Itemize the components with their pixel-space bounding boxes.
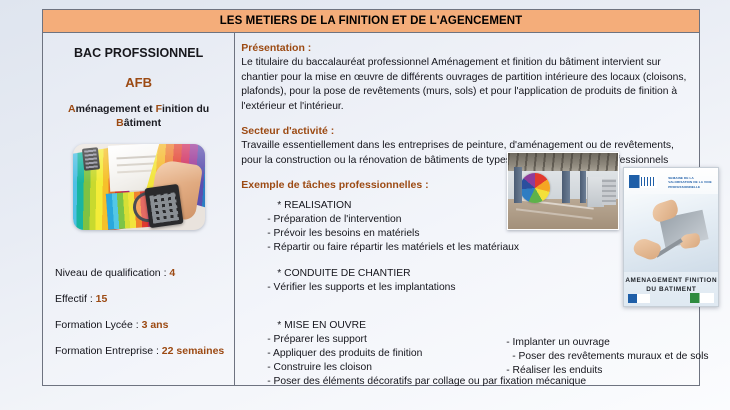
brochure-cover-image: SEMAINE DE LA VALORISATION DE LA VOIE PR…	[623, 167, 719, 307]
brochure-title: AMENAGEMENT FINITION DU BATIMENT	[624, 276, 718, 294]
tasks-right-column: - Implanter un ouvrage - Poser des revêt…	[496, 320, 726, 379]
brochure-footer-logo-right-icon	[690, 293, 714, 303]
brochure-footer-logo-left-icon	[628, 294, 650, 303]
task-item: - Réaliser les enduits	[506, 365, 726, 376]
presentation-text: Le titulaire du baccalauréat professionn…	[241, 56, 691, 114]
stat-row-formation-lycee: Formation Lycée : 3 ans	[55, 319, 224, 331]
sidebar: BAC PROFSSIONNEL AFB Aménagement et Fini…	[43, 33, 235, 385]
stat-label-qualification: Niveau de qualification :	[55, 267, 167, 279]
secteur-text: Travaille essentiellement dans les entre…	[241, 139, 691, 168]
subtitle-initial-b: B	[116, 117, 124, 129]
workshop-interior-color-wheel-photo	[507, 152, 619, 230]
diploma-label: BAC PROFSSIONNEL	[49, 46, 228, 60]
stat-label-formation-lycee: Formation Lycée :	[55, 319, 139, 331]
subtitle-part-2: inition du	[162, 103, 209, 115]
poster-title-bar: LES METIERS DE LA FINITION ET DE L'AGENC…	[43, 10, 699, 33]
subtitle-initial-a: A	[68, 103, 76, 115]
stat-label-formation-entreprise: Formation Entreprise :	[55, 345, 159, 357]
stat-value-formation-entreprise: 22 semaines	[162, 345, 224, 357]
presentation-heading: Présentation :	[241, 42, 691, 54]
small-calculator-icon	[82, 147, 100, 171]
paint-color-swatches-photo	[73, 144, 205, 230]
task-item: - Implanter un ouvrage	[506, 337, 726, 348]
calculator-icon	[144, 184, 183, 228]
brochure-footer-logos	[628, 293, 714, 303]
stairs-shape	[602, 179, 616, 205]
poster-frame: LES METIERS DE LA FINITION ET DE L'AGENC…	[42, 9, 700, 386]
task-spacer	[241, 308, 691, 320]
diploma-subtitle: Aménagement et Finition du Bâtiment	[49, 102, 228, 130]
task-item: - Poser des revêtements muraux et de sol…	[512, 351, 726, 362]
stat-row-qualification: Niveau de qualification : 4	[55, 267, 224, 279]
hand-icon	[632, 236, 663, 262]
stats-list: Niveau de qualification : 4 Effectif : 1…	[49, 267, 228, 385]
secteur-heading: Secteur d'activité :	[241, 125, 691, 137]
stat-value-formation-lycee: 3 ans	[142, 319, 169, 331]
brochure-illustration	[624, 194, 718, 272]
stat-value-effectif: 15	[96, 293, 108, 305]
poster-title: LES METIERS DE LA FINITION ET DE L'AGENC…	[220, 15, 523, 27]
subtitle-part-3: âtiment	[124, 117, 161, 129]
brochure-header-text: SEMAINE DE LA VALORISATION DE LA VOIE PR…	[668, 176, 713, 189]
pillar	[514, 167, 522, 203]
stat-value-qualification: 4	[169, 267, 175, 279]
brochure-logo-icon	[629, 175, 657, 188]
poster-body: BAC PROFSSIONNEL AFB Aménagement et Fini…	[43, 33, 699, 385]
stat-label-effectif: Effectif :	[55, 293, 93, 305]
stat-row-formation-entreprise: Formation Entreprise : 22 semaines	[55, 345, 224, 357]
subtitle-part-1: ménagement et	[76, 103, 156, 115]
pillar	[562, 171, 570, 203]
brochure-title-line-1: AMENAGEMENT FINITION	[625, 277, 717, 284]
brochure-title-line-2: DU BATIMENT	[646, 286, 696, 293]
main-content: Présentation : Le titulaire du baccalaur…	[235, 33, 699, 385]
pillar	[580, 171, 586, 203]
stat-row-effectif: Effectif : 15	[55, 293, 224, 305]
task-group-mise-en-ouvre: * MISE EN OUVRE - Préparer les support -…	[241, 320, 691, 387]
diploma-acronym: AFB	[49, 75, 228, 90]
